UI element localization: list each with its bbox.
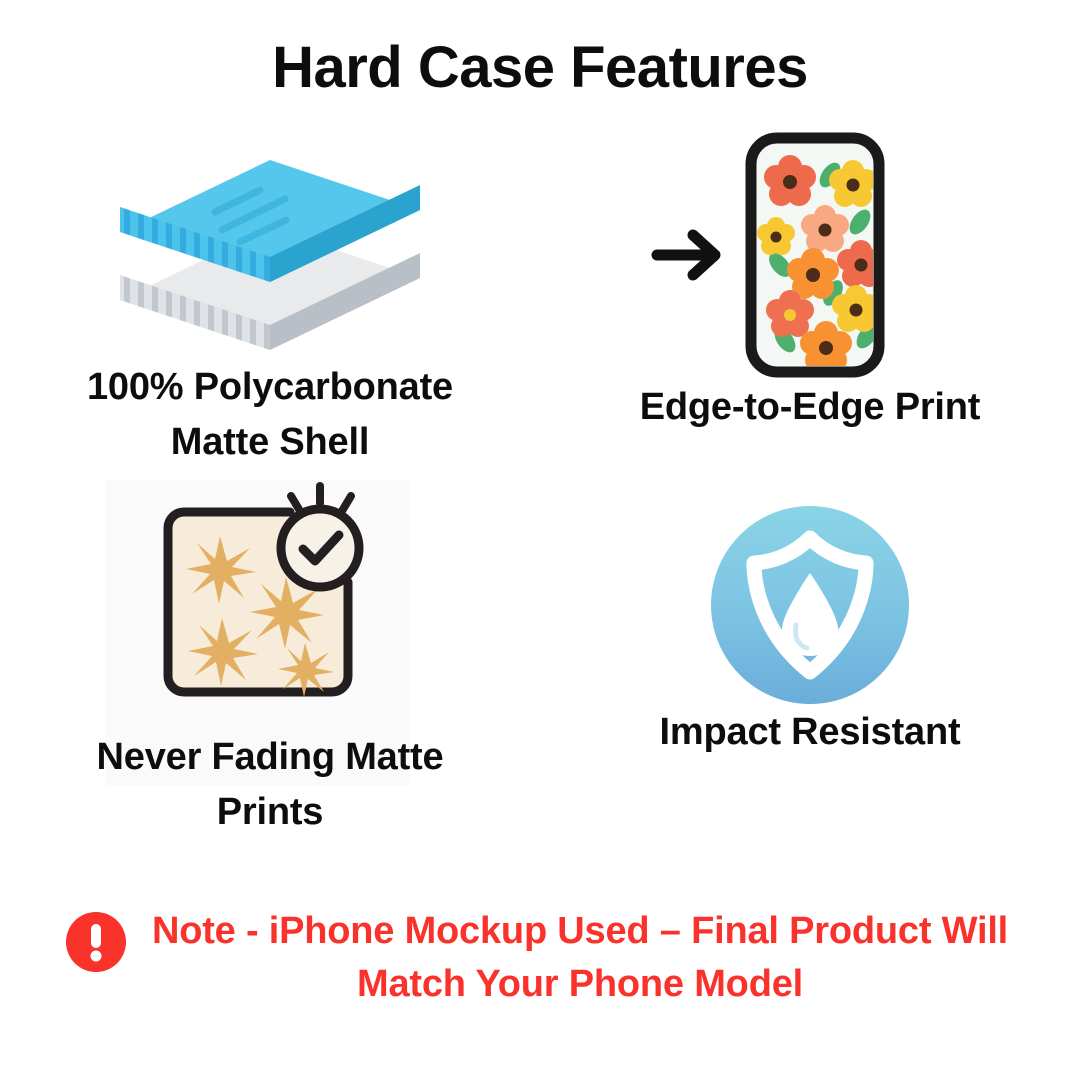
feature-label: Never Fading Matte Prints [20, 730, 520, 840]
sparkle-square-check-icon [20, 470, 520, 730]
feature-edge-to-edge: Edge-to-Edge Print [560, 130, 1060, 435]
arrow-right-icon [657, 235, 715, 275]
page-title: Hard Case Features [0, 36, 1080, 100]
check-badge-icon [281, 486, 359, 587]
feature-impact-resistant: Impact Resistant [560, 505, 1060, 760]
shield-droplet-icon [560, 505, 1060, 705]
feature-label-line1: Impact Resistant [560, 705, 1060, 760]
feature-label-line1: Never Fading Matte [20, 730, 520, 785]
feature-label-line1: 100% Polycarbonate [20, 360, 520, 415]
feature-label-line2: Prints [20, 785, 520, 840]
phone-floral-print-icon [560, 130, 1060, 380]
feature-polycarbonate: 100% Polycarbonate Matte Shell [20, 150, 520, 470]
feature-label: Impact Resistant [560, 705, 1060, 760]
feature-never-fading: Never Fading Matte Prints [20, 470, 520, 840]
exclamation-circle-icon [65, 911, 127, 973]
feature-graphic: Hard Case Features [0, 0, 1080, 1080]
layered-plates-icon [20, 150, 520, 360]
feature-label-line1: Edge-to-Edge Print [560, 380, 1060, 435]
note-text: Note - iPhone Mockup Used – Final Produc… [145, 905, 1015, 1011]
note-banner: Note - iPhone Mockup Used – Final Produc… [0, 905, 1080, 1011]
feature-label: Edge-to-Edge Print [560, 380, 1060, 435]
feature-label-line2: Matte Shell [20, 415, 520, 470]
feature-label: 100% Polycarbonate Matte Shell [20, 360, 520, 470]
